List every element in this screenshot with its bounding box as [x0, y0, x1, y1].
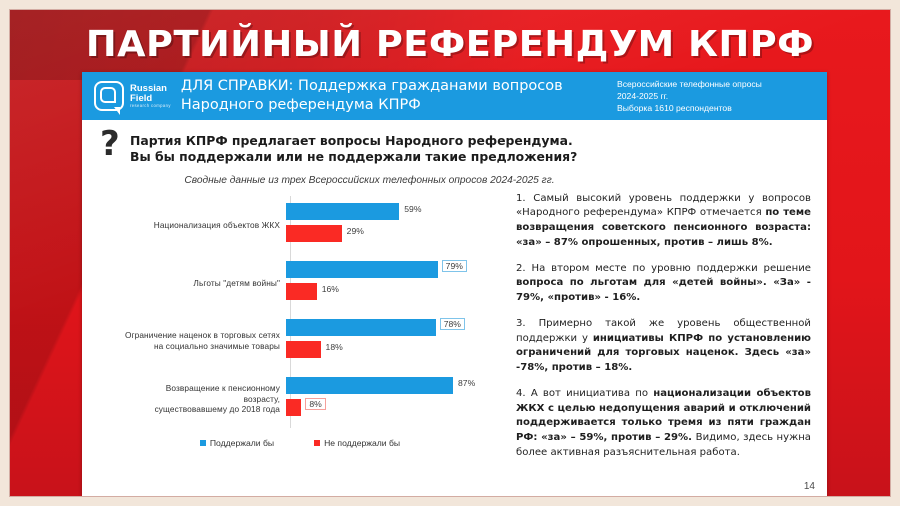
chart-value-label: 78% [440, 318, 465, 330]
commentary-text: 2. На втором месте по уровню поддержки р… [516, 263, 811, 274]
banner-title-band: ПАРТИЙНЫЙ РЕФЕРЕНДУМ КПРФ [10, 18, 890, 70]
chart-bar-oppose [286, 225, 342, 242]
chart-category-label: Национализация объектов ЖКХ [90, 220, 286, 230]
commentary-panel: 1. Самый высокий уровень поддержки у воп… [510, 190, 827, 472]
chart-category-label: Ограничение наценок в торговых сетяхна с… [90, 330, 286, 351]
logo-text: Russian Field research company [130, 84, 171, 108]
chart-group: Национализация объектов ЖКХ59%29% [90, 196, 510, 254]
chart-bar-support [286, 319, 436, 336]
question-line-2: Вы бы поддержали или не поддержали такие… [130, 149, 577, 165]
para-2: 2. На втором месте по уровню поддержки р… [516, 262, 811, 306]
chart-bars: 79%16% [286, 260, 510, 306]
chart-panel: Национализация объектов ЖКХ59%29%Льготы … [82, 190, 510, 472]
chart-value-label: 29% [346, 226, 365, 236]
banner-title: ПАРТИЙНЫЙ РЕФЕРЕНДУМ КПРФ [86, 24, 814, 65]
chart-bar-support [286, 203, 399, 220]
legend-item: Поддержали бы [200, 438, 274, 448]
commentary-text: 4. А вот инициатива по [516, 388, 653, 399]
chart-subnote: Сводные данные из трех Всероссийских тел… [82, 175, 827, 186]
para-3: 3. Примерно такой же уровень общественно… [516, 317, 811, 376]
chart-bars: 87%8% [286, 376, 510, 422]
bar-chart: Национализация объектов ЖКХ59%29%Льготы … [90, 196, 510, 436]
question-row: ? Партия КПРФ предлагает вопросы Народно… [82, 120, 827, 166]
header-meta-line-2: 2024-2025 гг. [617, 90, 817, 102]
commentary-emphasis: вопроса по льготам для «детей войны». «З… [516, 277, 811, 303]
card-header: Russian Field research company ДЛЯ СПРАВ… [82, 72, 827, 120]
legend-label: Не поддержали бы [324, 438, 400, 448]
chart-group: Ограничение наценок в торговых сетяхна с… [90, 312, 510, 370]
card-body: Национализация объектов ЖКХ59%29%Льготы … [82, 186, 827, 472]
para-4: 4. А вот инициатива по национализации об… [516, 387, 811, 461]
question-mark-icon: ? [100, 130, 130, 159]
chart-bars: 78%18% [286, 318, 510, 364]
legend-swatch [314, 440, 320, 446]
chart-bar-support [286, 377, 453, 394]
page-number: 14 [804, 481, 815, 492]
chart-value-label: 8% [305, 398, 325, 410]
chart-value-label: 79% [442, 260, 467, 272]
header-meta-line-1: Всероссийские телефонные опросы [617, 78, 817, 90]
chart-bar-support [286, 261, 438, 278]
question-text: Партия КПРФ предлагает вопросы Народного… [130, 130, 577, 166]
chart-value-label: 16% [321, 284, 340, 294]
chart-value-label: 87% [457, 378, 476, 388]
legend-label: Поддержали бы [210, 438, 274, 448]
chart-category-label: Льготы "детям войны" [90, 278, 286, 288]
chart-bar-oppose [286, 399, 301, 416]
chart-value-label: 18% [325, 342, 344, 352]
slide-card: Russian Field research company ДЛЯ СПРАВ… [82, 72, 827, 496]
legend-item: Не поддержали бы [314, 438, 400, 448]
commentary-list: 1. Самый высокий уровень поддержки у воп… [516, 192, 811, 461]
legend-swatch [200, 440, 206, 446]
chart-bar-oppose [286, 341, 321, 358]
rf-logo-icon [94, 81, 124, 111]
chart-group: Возвращение к пенсионномувозрасту,сущест… [90, 370, 510, 428]
header-meta: Всероссийские телефонные опросы 2024-202… [617, 78, 817, 115]
chart-bars: 59%29% [286, 202, 510, 248]
chart-groups: Национализация объектов ЖКХ59%29%Льготы … [90, 196, 510, 428]
chart-value-label: 59% [403, 204, 422, 214]
chart-category-label: Возвращение к пенсионномувозрасту,сущест… [90, 383, 286, 414]
question-line-1: Партия КПРФ предлагает вопросы Народного… [130, 133, 577, 149]
header-title: ДЛЯ СПРАВКИ: Поддержка гражданами вопрос… [171, 77, 617, 114]
para-1: 1. Самый высокий уровень поддержки у воп… [516, 192, 811, 251]
slide-background: ПАРТИЙНЫЙ РЕФЕРЕНДУМ КПРФ Russian Field … [10, 10, 890, 496]
header-meta-line-3: Выборка 1610 респондентов [617, 102, 817, 114]
chart-legend: Поддержали быНе поддержали бы [90, 438, 510, 448]
chart-group: Льготы "детям войны"79%16% [90, 254, 510, 312]
logo-line-3: research company [130, 104, 171, 108]
russian-field-logo: Russian Field research company [94, 81, 171, 111]
chart-bar-oppose [286, 283, 317, 300]
screenshot-root: ПАРТИЙНЫЙ РЕФЕРЕНДУМ КПРФ Russian Field … [0, 0, 900, 506]
